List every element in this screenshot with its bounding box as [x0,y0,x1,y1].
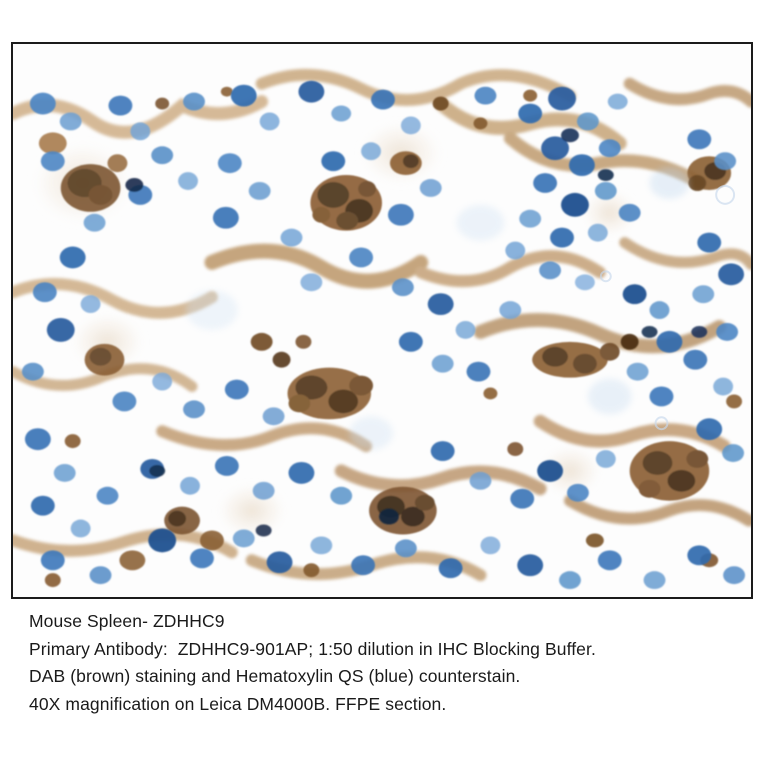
micrograph-frame [11,42,753,599]
micrograph-image [13,44,751,597]
caption-line-primary-antibody: Primary Antibody: ZDHHC9-901AP; 1:50 dil… [29,636,749,664]
caption-line-staining: DAB (brown) staining and Hematoxylin QS … [29,663,749,691]
caption-line-magnification: 40X magnification on Leica DM4000B. FFPE… [29,691,749,719]
caption-block: Mouse Spleen- ZDHHC9 Primary Antibody: Z… [29,608,749,718]
caption-line-sample: Mouse Spleen- ZDHHC9 [29,608,749,636]
figure-root: Mouse Spleen- ZDHHC9 Primary Antibody: Z… [0,0,764,764]
